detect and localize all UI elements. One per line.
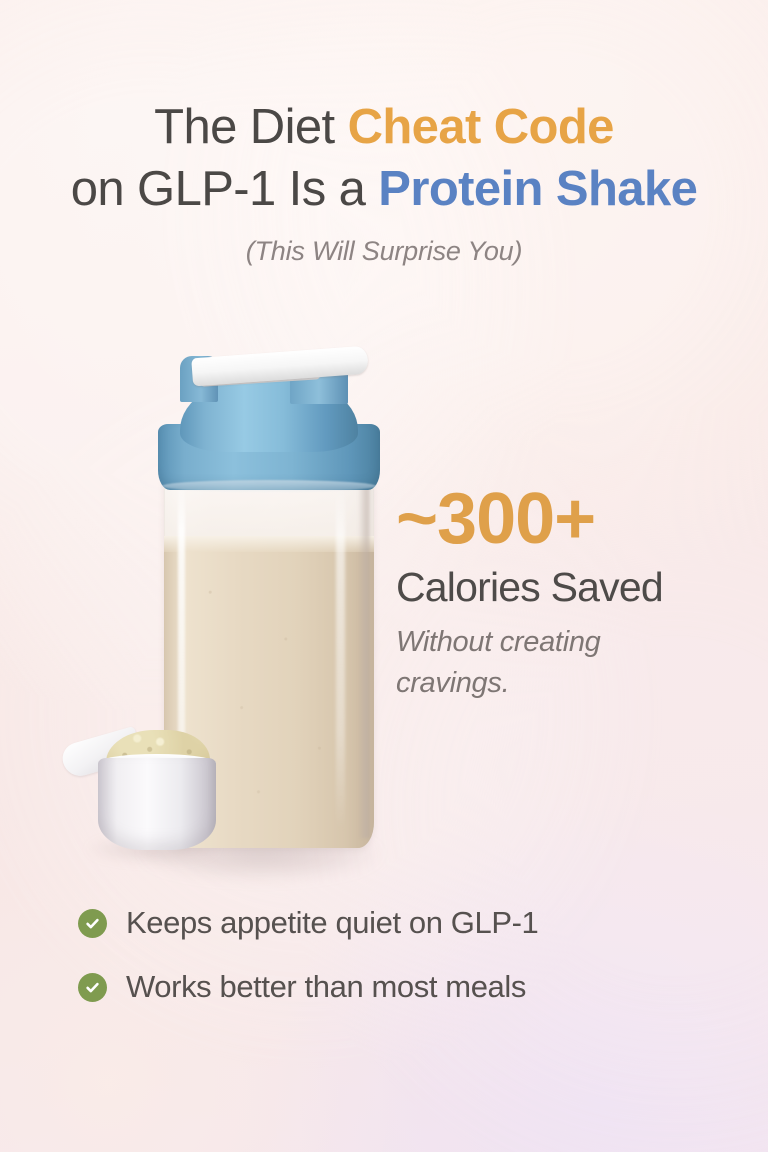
headline-block: The Diet Cheat Code on GLP-1 Is a Protei… — [0, 96, 768, 267]
stat-label: Calories Saved — [396, 564, 742, 610]
stat-number: ~300+ — [396, 482, 742, 556]
benefits-list: Keeps appetite quiet on GLP-1 Works bett… — [78, 905, 538, 1033]
cap-hinge-post-left — [180, 356, 218, 402]
scoop-ground-shadow — [58, 828, 248, 870]
powder-scoop — [62, 732, 222, 854]
protein-powder-mound — [106, 730, 210, 772]
list-item: Keeps appetite quiet on GLP-1 — [78, 905, 538, 941]
stat-note: Without creating cravings. — [396, 622, 668, 704]
check-circle-icon — [78, 973, 107, 1002]
bottle-body — [164, 476, 374, 848]
scoop-handle — [59, 726, 143, 780]
bottle-highlight-right — [336, 484, 345, 830]
headline-line-1-plain: The Diet — [154, 100, 347, 154]
check-circle-icon — [78, 909, 107, 938]
bottle-cap-skirt — [158, 424, 380, 490]
headline-line-2: on GLP-1 Is a Protein Shake — [0, 158, 768, 220]
stat-callout: ~300+ Calories Saved Without creating cr… — [396, 482, 742, 704]
headline-line-1: The Diet Cheat Code — [0, 96, 768, 158]
scoop-rim — [98, 754, 216, 772]
headline-subhead: (This Will Surprise You) — [0, 236, 768, 267]
shake-liquid — [164, 536, 374, 848]
headline-line-2-accent: Protein Shake — [378, 162, 697, 216]
bottle-ground-shadow — [96, 818, 426, 890]
poster-canvas: The Diet Cheat Code on GLP-1 Is a Protei… — [0, 0, 768, 1152]
headline-line-2-plain: on GLP-1 Is a — [71, 162, 379, 216]
bottle-cap-dome — [180, 374, 358, 452]
scoop-cup — [98, 758, 216, 850]
bottle-headspace — [164, 476, 374, 538]
list-item-label: Works better than most meals — [126, 969, 526, 1005]
headline-line-1-accent: Cheat Code — [348, 100, 614, 154]
list-item: Works better than most meals — [78, 969, 538, 1005]
protein-shaker-bottle — [158, 352, 380, 852]
bottle-highlight-left — [178, 480, 185, 836]
list-item-label: Keeps appetite quiet on GLP-1 — [126, 905, 538, 941]
cap-hinge-post-right — [290, 360, 348, 404]
bottle-neck-ring — [162, 480, 376, 492]
cap-flip-lever — [191, 346, 369, 387]
bottle-edge-right — [358, 478, 370, 838]
cap-lever-underside — [200, 367, 321, 387]
